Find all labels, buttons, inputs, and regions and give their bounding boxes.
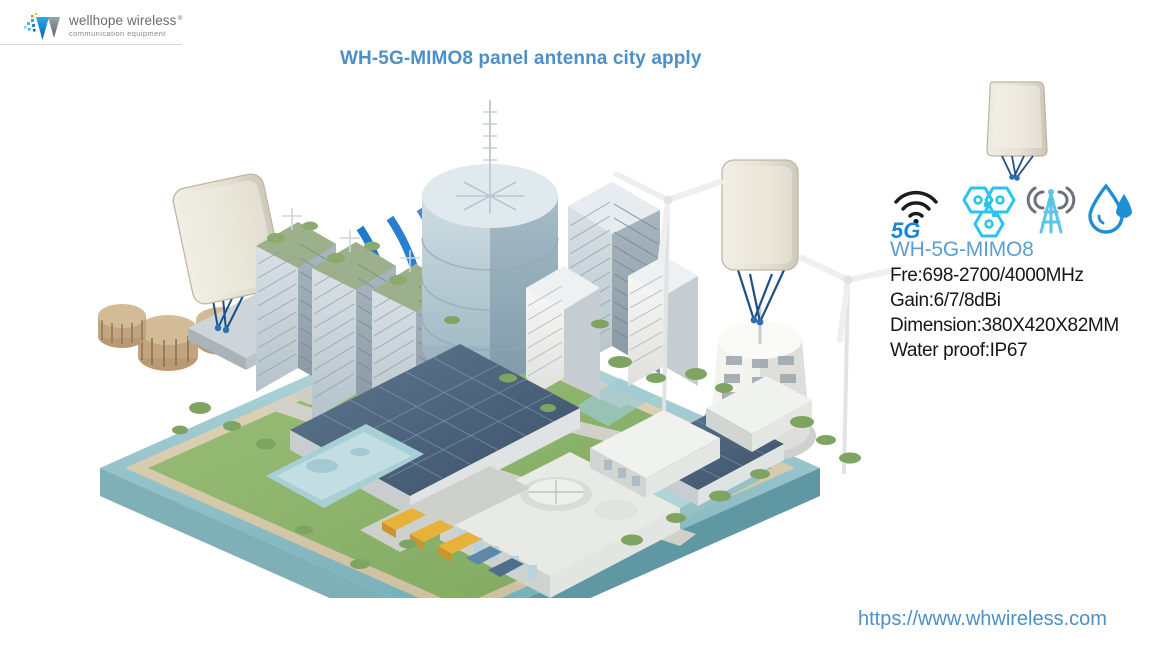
feature-icon-row: 5G (888, 182, 1138, 242)
product-spec-block: WH-5G-MIMO8 Fre:698-2700/4000MHz Gain:6/… (890, 238, 1152, 363)
5g-signal-icon: 5G (888, 182, 946, 245)
brand-wordmark: wellhope wireless® communication equipme… (69, 14, 181, 38)
spec-frequency: Fre:698-2700/4000MHz (890, 263, 1152, 288)
brand-name: wellhope wireless (69, 13, 177, 28)
product-model-name: WH-5G-MIMO8 (890, 238, 1152, 263)
spec-gain: Gain:6/7/8dBi (890, 288, 1152, 313)
brand-tagline: communication equipment (69, 30, 181, 38)
spec-dimension: Dimension:380X420X82MM (890, 313, 1152, 338)
website-url[interactable]: https://www.whwireless.com (858, 608, 1107, 631)
iot-hexagon-icon (956, 182, 1018, 245)
wellhope-w-logo-icon (22, 11, 62, 41)
spec-waterproof: Water proof:IP67 (890, 338, 1152, 363)
water-drop-icon (1086, 182, 1136, 243)
brand-logo: wellhope wireless® communication equipme… (22, 8, 182, 44)
panel-antenna-product-photo (962, 72, 1072, 184)
antenna-tower-icon (1022, 182, 1080, 245)
registered-mark: ® (178, 15, 183, 22)
isometric-smart-city-illustration (60, 78, 920, 598)
5g-label: 5G (891, 218, 920, 240)
logo-divider (0, 44, 182, 45)
page-title: WH-5G-MIMO8 panel antenna city apply (340, 48, 701, 70)
